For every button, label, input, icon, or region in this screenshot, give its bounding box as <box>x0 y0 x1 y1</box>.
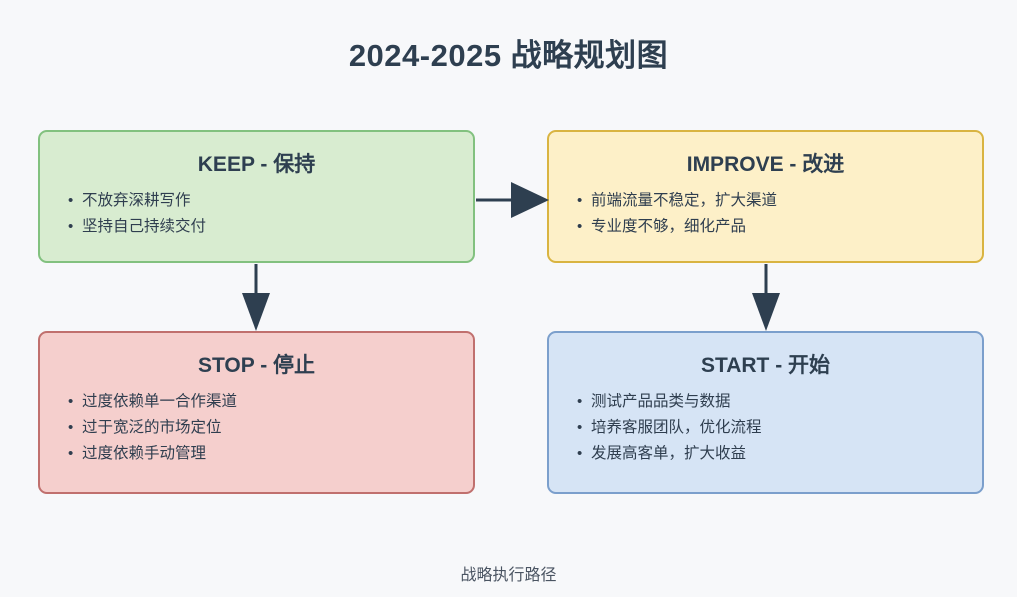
list-item: 坚持自己持续交付 <box>68 214 473 240</box>
page-title: 2024-2025 战略规划图 <box>0 30 1017 75</box>
list-item: 测试产品品类与数据 <box>577 389 982 415</box>
quadrant-title-improve: IMPROVE - 改进 <box>549 148 982 178</box>
list-item: 发展高客单，扩大收益 <box>577 441 982 467</box>
list-item: 过度依赖单一合作渠道 <box>68 389 473 415</box>
quadrant-list-improve: 前端流量不稳定，扩大渠道 专业度不够，细化产品 <box>549 188 982 240</box>
quadrant-list-keep: 不放弃深耕写作 坚持自己持续交付 <box>40 188 473 240</box>
arrow-keep-to-stop-icon <box>242 264 270 331</box>
strategy-diagram-canvas: 2024-2025 战略规划图 KEEP - 保持 不放弃深耕写作 坚持自己持续… <box>0 0 1017 597</box>
list-item: 前端流量不稳定，扩大渠道 <box>577 188 982 214</box>
quadrant-list-stop: 过度依赖单一合作渠道 过于宽泛的市场定位 过度依赖手动管理 <box>40 389 473 467</box>
quadrant-box-stop[interactable]: STOP - 停止 过度依赖单一合作渠道 过于宽泛的市场定位 过度依赖手动管理 <box>38 331 475 494</box>
list-item: 专业度不够，细化产品 <box>577 214 982 240</box>
list-item: 过度依赖手动管理 <box>68 441 473 467</box>
quadrant-box-improve[interactable]: IMPROVE - 改进 前端流量不稳定，扩大渠道 专业度不够，细化产品 <box>547 130 984 263</box>
list-item: 过于宽泛的市场定位 <box>68 415 473 441</box>
quadrant-title-start: START - 开始 <box>549 349 982 379</box>
quadrant-title-keep: KEEP - 保持 <box>40 148 473 178</box>
list-item: 培养客服团队，优化流程 <box>577 415 982 441</box>
list-item: 不放弃深耕写作 <box>68 188 473 214</box>
quadrant-box-start[interactable]: START - 开始 测试产品品类与数据 培养客服团队，优化流程 发展高客单，扩… <box>547 331 984 494</box>
connector-arrow-layer <box>0 0 1017 597</box>
footer-caption: 战略执行路径 <box>0 561 1017 585</box>
quadrant-list-start: 测试产品品类与数据 培养客服团队，优化流程 发展高客单，扩大收益 <box>549 389 982 467</box>
arrow-improve-to-start-icon <box>752 264 780 331</box>
arrow-keep-to-improve-icon <box>476 182 549 218</box>
quadrant-box-keep[interactable]: KEEP - 保持 不放弃深耕写作 坚持自己持续交付 <box>38 130 475 263</box>
quadrant-title-stop: STOP - 停止 <box>40 349 473 379</box>
